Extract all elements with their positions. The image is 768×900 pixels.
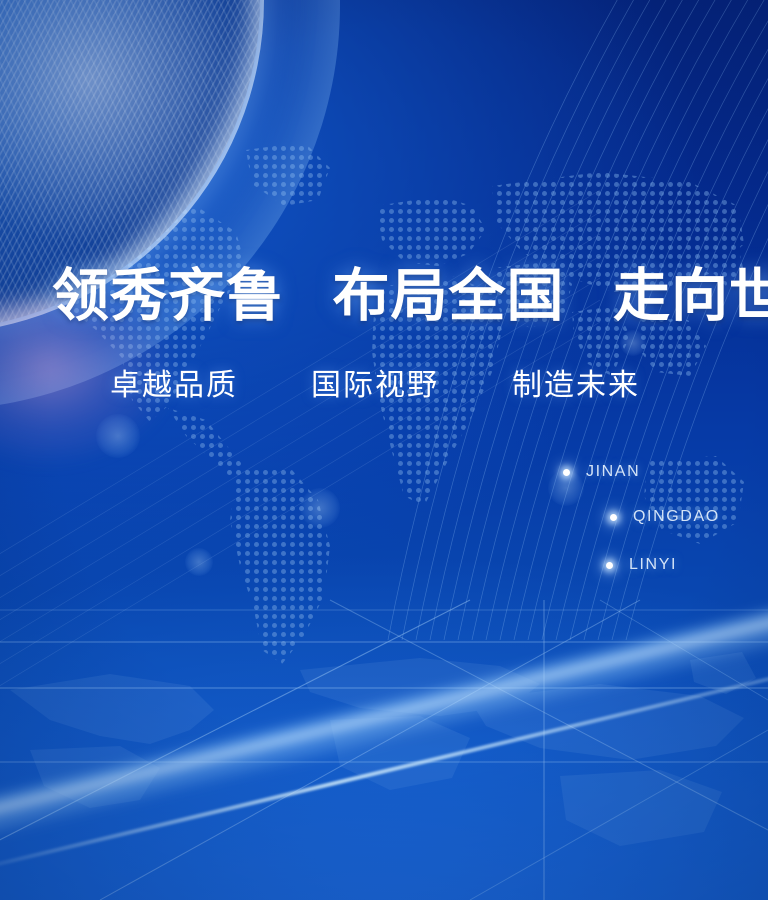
city-marker-linyi[interactable]: LINYI <box>606 556 677 574</box>
city-marker-jinan[interactable]: JINAN <box>563 463 640 481</box>
banner-subline: 卓越品质 国际视野 制造未来 <box>110 371 640 401</box>
banner-headline: 领秀齐鲁 布局全国 走向世界 <box>52 268 768 325</box>
banner-hero: 领秀齐鲁 布局全国 走向世界 卓越品质 国际视野 制造未来 JINAN QING… <box>0 0 768 900</box>
city-dot-icon <box>606 562 613 569</box>
city-marker-qingdao[interactable]: QINGDAO <box>610 508 720 526</box>
city-dot-icon <box>610 514 617 521</box>
headline-part-2: 布局全国 <box>333 265 565 328</box>
city-label-qingdao: QINGDAO <box>633 508 720 526</box>
subline-part-2: 国际视野 <box>311 369 439 402</box>
city-dot-icon <box>563 469 570 476</box>
headline-part-1: 领秀齐鲁 <box>52 265 284 328</box>
banner-content: 领秀齐鲁 布局全国 走向世界 卓越品质 国际视野 制造未来 JINAN QING… <box>0 0 768 900</box>
city-label-linyi: LINYI <box>629 556 677 574</box>
headline-part-3: 走向世界 <box>613 265 768 328</box>
city-label-jinan: JINAN <box>586 463 640 481</box>
subline-part-3: 制造未来 <box>512 369 640 402</box>
subline-part-1: 卓越品质 <box>110 369 238 402</box>
